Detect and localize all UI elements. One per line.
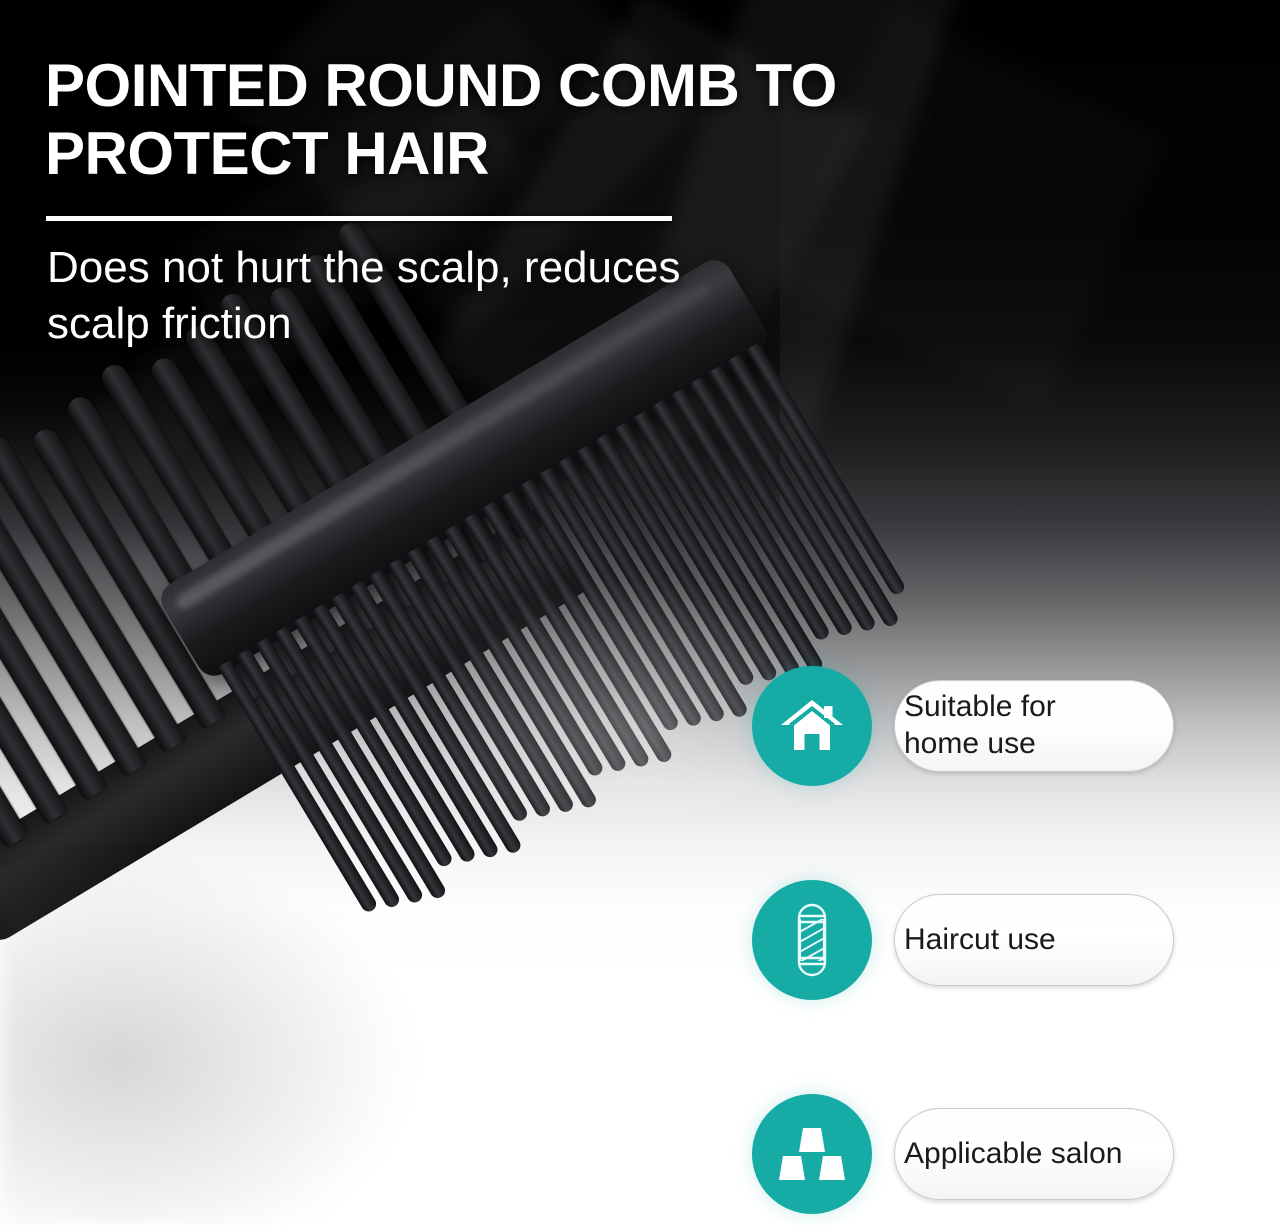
feature-label: Applicable salon <box>904 1094 1174 1214</box>
barber-pole-icon <box>752 880 872 1000</box>
gold-bars-icon <box>752 1094 872 1214</box>
feature-badge-home-use[interactable]: Suitable for home use <box>752 666 1174 786</box>
feature-label: Suitable for home use <box>904 666 1174 786</box>
page-subtitle: Does not hurt the scalp, reduces scalp f… <box>47 240 747 353</box>
product-feature-banner: Pointed round comb to protect hair Does … <box>0 0 1280 1225</box>
page-title: Pointed round comb to protect hair <box>45 52 1005 189</box>
feature-badge-haircut-use[interactable]: Haircut use <box>752 880 1174 1000</box>
feature-label: Haircut use <box>904 880 1174 1000</box>
feature-badge-list: Suitable for home use Haircut use <box>752 666 1174 1225</box>
feature-badge-applicable-salon[interactable]: Applicable salon <box>752 1094 1174 1214</box>
home-icon <box>752 666 872 786</box>
title-divider <box>46 216 672 221</box>
